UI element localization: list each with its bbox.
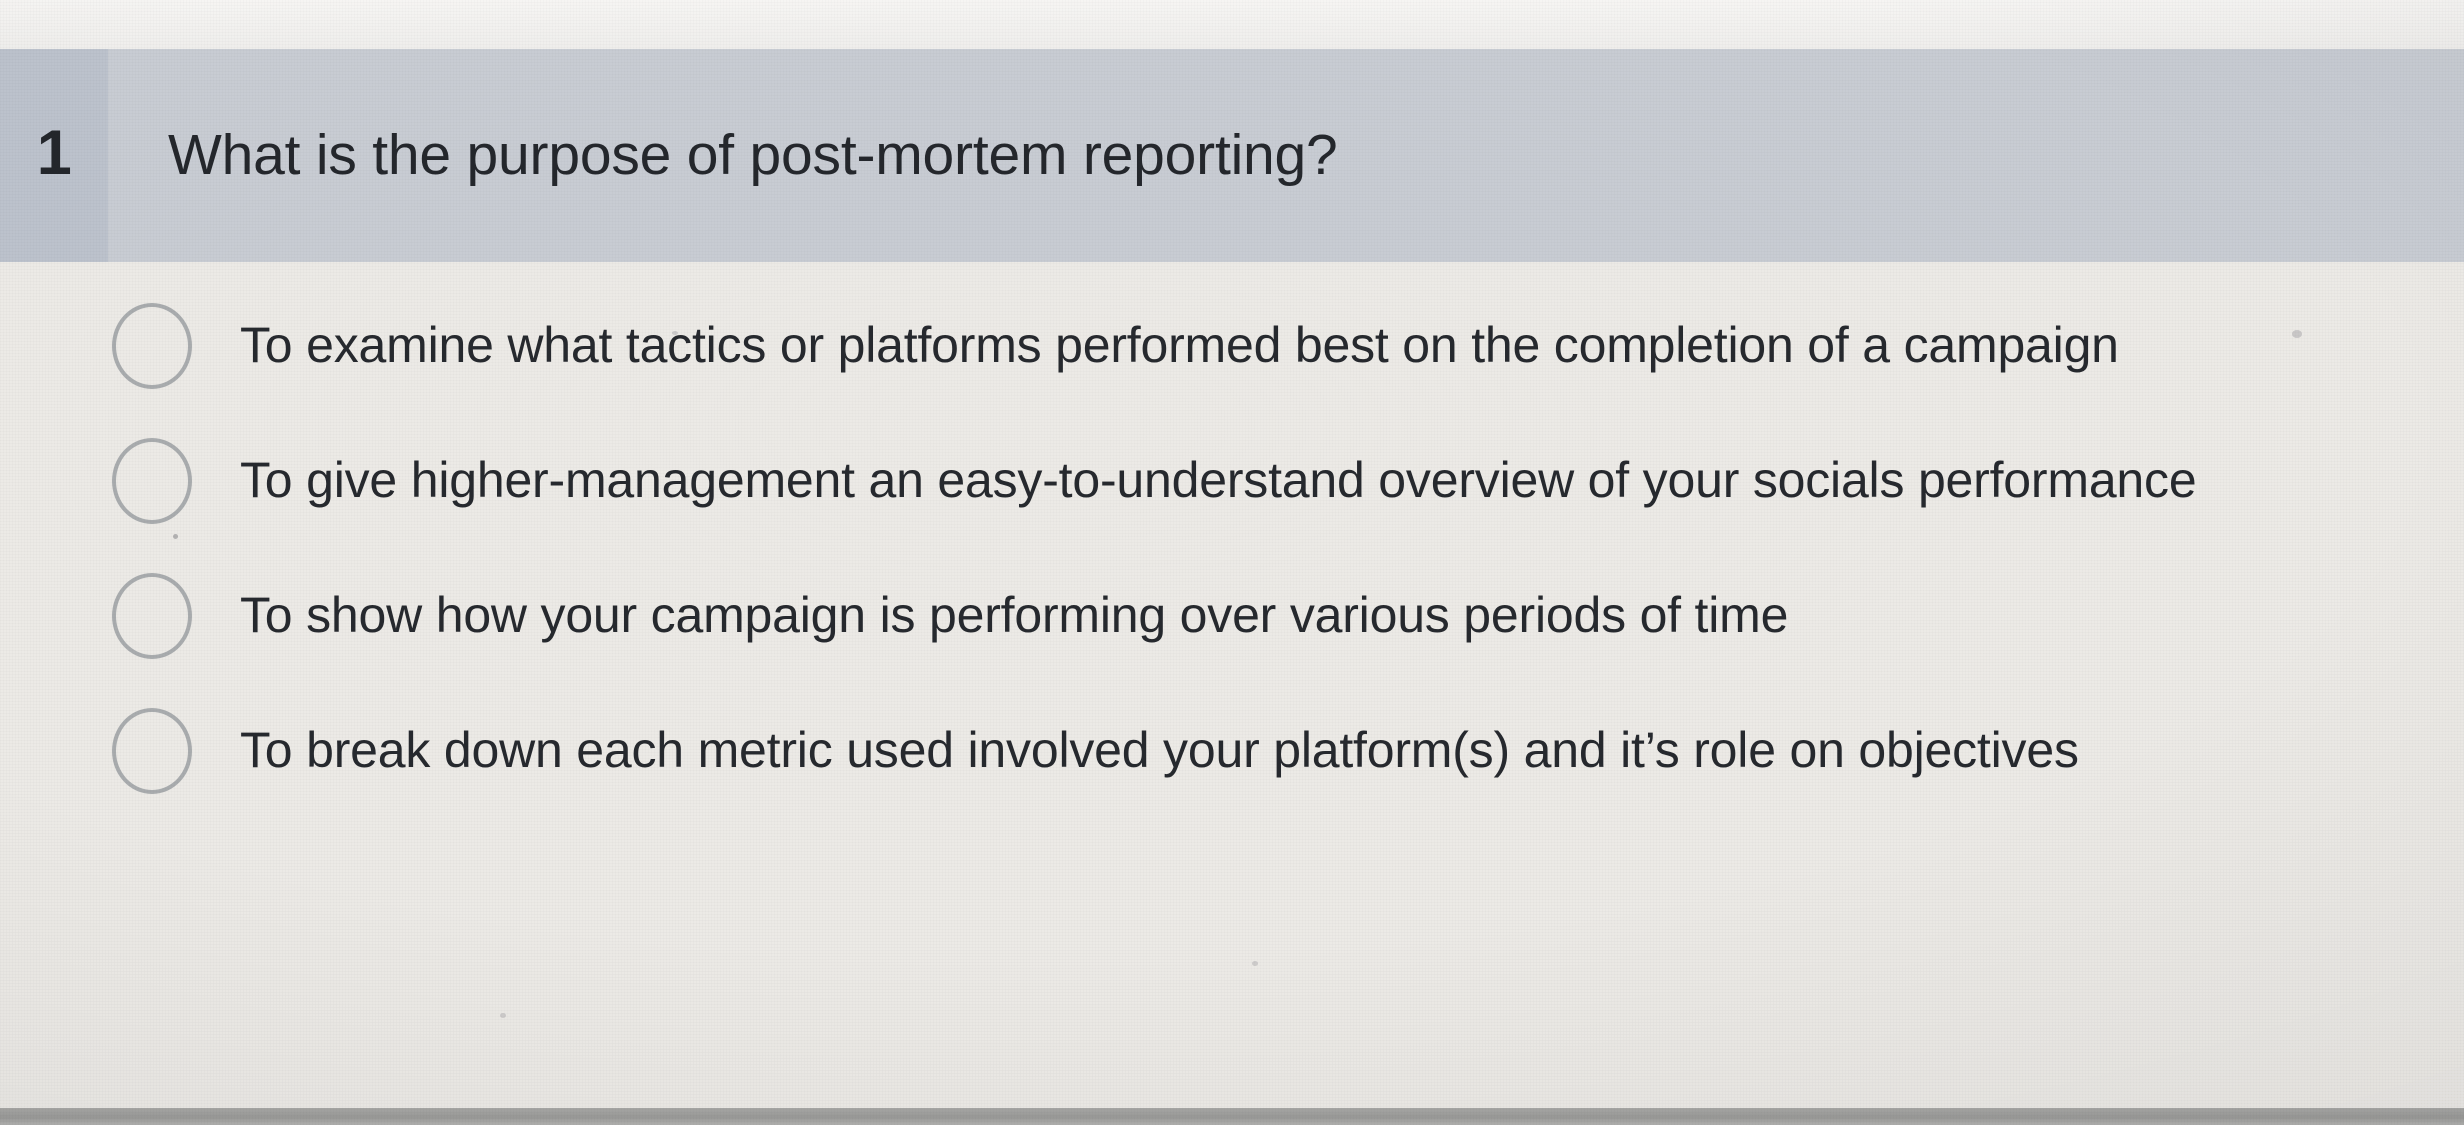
- answer-option-a[interactable]: To examine what tactics or platforms per…: [0, 278, 2464, 413]
- answer-option-d[interactable]: To break down each metric used involved …: [0, 683, 2464, 818]
- bottom-bezel-strip: [0, 1108, 2464, 1125]
- answer-option-label-a[interactable]: To examine what tactics or platforms per…: [240, 317, 2119, 375]
- radio-button-icon-b[interactable]: [112, 438, 192, 524]
- answer-option-c[interactable]: To show how your campaign is performing …: [0, 548, 2464, 683]
- dust-speck: [2292, 330, 2302, 338]
- dust-speck: [672, 331, 678, 335]
- answer-option-b[interactable]: To give higher-management an easy-to-und…: [0, 413, 2464, 548]
- radio-button-icon-d[interactable]: [112, 708, 192, 794]
- answers-body: To examine what tactics or platforms per…: [0, 262, 2464, 1108]
- question-text-cell: What is the purpose of post-mortem repor…: [108, 49, 2464, 262]
- radio-button-icon-a[interactable]: [112, 303, 192, 389]
- question-text: What is the purpose of post-mortem repor…: [168, 124, 1338, 188]
- radio-button-icon-c[interactable]: [112, 573, 192, 659]
- quiz-screen: 1 What is the purpose of post-mortem rep…: [0, 0, 2464, 1125]
- answer-option-label-d[interactable]: To break down each metric used involved …: [240, 722, 2079, 780]
- dust-speck: [500, 1013, 506, 1018]
- answer-option-label-c[interactable]: To show how your campaign is performing …: [240, 587, 1788, 645]
- question-header-band: 1 What is the purpose of post-mortem rep…: [0, 49, 2464, 262]
- dust-speck: [1252, 961, 1258, 966]
- answer-options-list: To examine what tactics or platforms per…: [0, 278, 2464, 818]
- question-number-cell: 1: [0, 49, 108, 262]
- top-margin-strip: [0, 0, 2464, 49]
- answer-option-label-b[interactable]: To give higher-management an easy-to-und…: [240, 452, 2196, 510]
- dust-speck: [173, 534, 178, 539]
- question-number: 1: [37, 122, 72, 185]
